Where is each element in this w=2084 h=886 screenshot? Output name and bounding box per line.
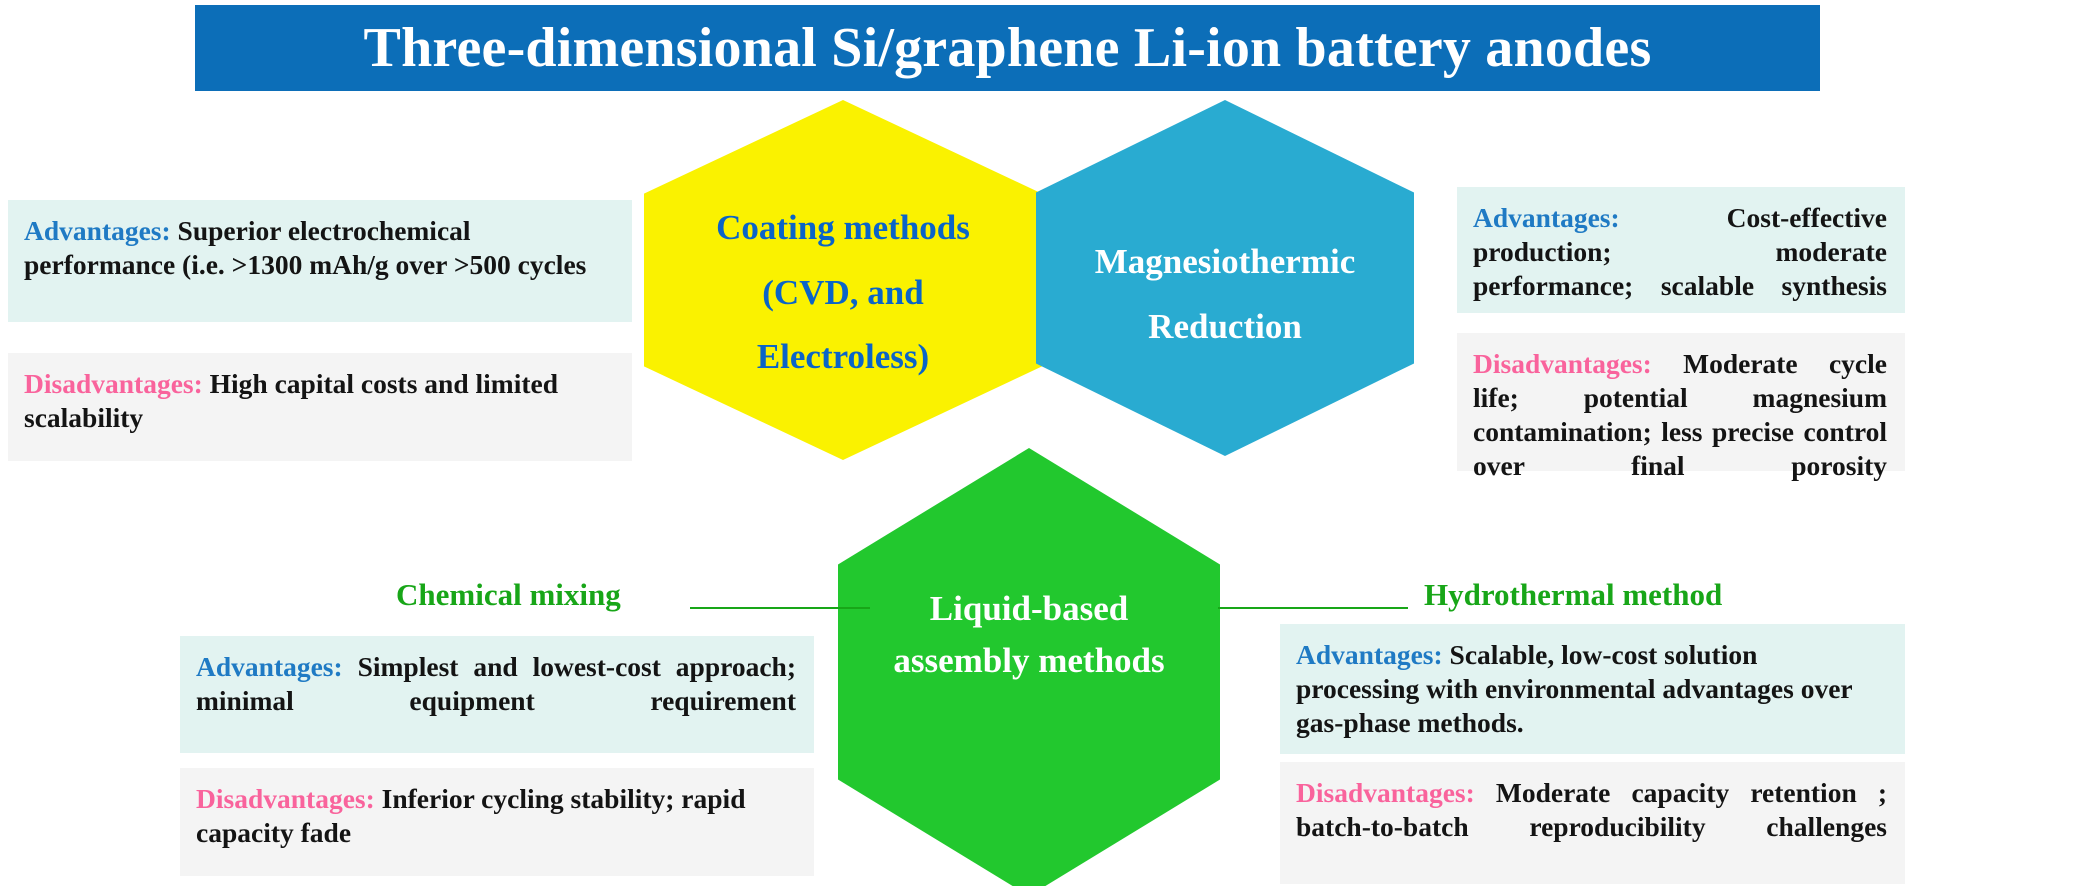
advantages-label: Advantages: — [196, 651, 343, 682]
coating-advantages-box: Advantages: Superior electrochemical per… — [8, 200, 632, 322]
magnesiothermic-advantages-text: Advantages: Cost-effective production; m… — [1473, 201, 1887, 337]
hexagon-coating-methods: Coating methods (CVD, and Electroless) — [644, 100, 1042, 460]
hydrothermal-disadvantages-box: Disadvantages: Moderate capacity retenti… — [1280, 762, 1905, 884]
connector-line-hydrothermal-method — [1218, 607, 1408, 609]
chemical-mixing-disadvantages-text: Disadvantages: Inferior cycling stabilit… — [196, 782, 796, 850]
advantages-label: Advantages: — [24, 215, 171, 246]
chemical-mixing-advantages-box: Advantages: Simplest and lowest-cost app… — [180, 636, 814, 753]
advantages-label: Advantages: — [1296, 639, 1443, 670]
hexagon-magnesiothermic-reduction: Magnesiothermic Reduction — [1036, 100, 1414, 456]
diagram-canvas: Three-dimensional Si/graphene Li-ion bat… — [0, 0, 2084, 886]
disadvantages-label: Disadvantages: — [24, 368, 203, 399]
magnesiothermic-disadvantages-box: Disadvantages: Moderate cycle life; pote… — [1457, 333, 1905, 471]
page-title: Three-dimensional Si/graphene Li-ion bat… — [364, 16, 1652, 80]
coating-advantages-text: Advantages: Superior electrochemical per… — [24, 214, 614, 282]
branch-label-chemical-mixing: Chemical mixing — [396, 577, 621, 613]
hexagon-coating-label: Coating methods (CVD, and Electroless) — [716, 170, 970, 390]
coating-disadvantages-box: Disadvantages: High capital costs and li… — [8, 353, 632, 461]
disadvantages-label: Disadvantages: — [1473, 348, 1652, 379]
chemical-mixing-disadvantages-box: Disadvantages: Inferior cycling stabilit… — [180, 768, 814, 876]
branch-label-hydrothermal-method: Hydrothermal method — [1424, 577, 1722, 613]
hydrothermal-disadvantages-text: Disadvantages: Moderate capacity retenti… — [1296, 776, 1887, 878]
hydrothermal-advantages-text: Advantages: Scalable, low-cost solution … — [1296, 638, 1887, 740]
hexagon-liquid-label: Liquid-based assembly methods — [893, 583, 1164, 762]
hexagon-magnesiothermic-label: Magnesiothermic Reduction — [1095, 196, 1355, 360]
coating-disadvantages-text: Disadvantages: High capital costs and li… — [24, 367, 614, 435]
connector-line-chemical-mixing — [690, 607, 870, 609]
hexagon-liquid-based-assembly: Liquid-based assembly methods — [838, 448, 1220, 886]
advantages-label: Advantages: — [1473, 202, 1620, 233]
magnesiothermic-advantages-box: Advantages: Cost-effective production; m… — [1457, 187, 1905, 313]
hydrothermal-advantages-box: Advantages: Scalable, low-cost solution … — [1280, 624, 1905, 754]
title-banner: Three-dimensional Si/graphene Li-ion bat… — [195, 5, 1820, 91]
chemical-mixing-advantages-text: Advantages: Simplest and lowest-cost app… — [196, 650, 796, 752]
disadvantages-label: Disadvantages: — [196, 783, 375, 814]
magnesiothermic-disadvantages-text: Disadvantages: Moderate cycle life; pote… — [1473, 347, 1887, 517]
disadvantages-label: Disadvantages: — [1296, 777, 1475, 808]
